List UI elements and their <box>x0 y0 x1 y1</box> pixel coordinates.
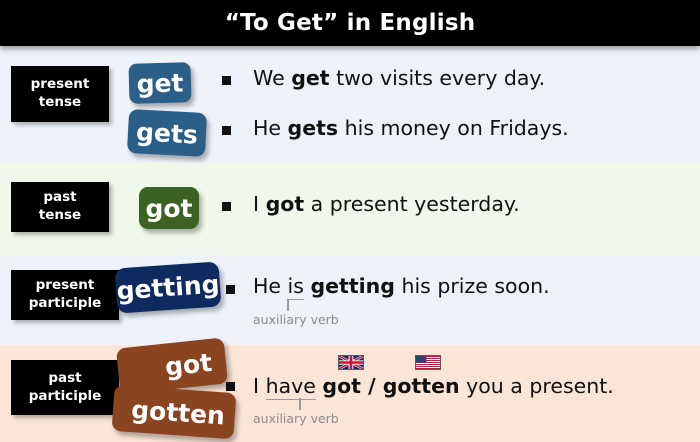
bullet-marker <box>222 202 231 211</box>
label-present-participle: present participle <box>11 270 119 320</box>
sentence-present-1: We get two visits every day. <box>253 66 545 90</box>
badge-get: get <box>128 62 191 104</box>
label-line-1: present <box>31 76 90 94</box>
sentence-past-participle: I have got / gotten you a present. <box>253 374 614 398</box>
label-line-1: past <box>48 370 81 388</box>
sentence-pre: He <box>253 116 288 140</box>
label-line-1: past <box>43 189 76 207</box>
sentence-pre: I <box>253 374 266 398</box>
label-past-tense: past tense <box>11 182 109 232</box>
page-header: “To Get” in English <box>0 0 700 46</box>
infographic-sheet: “To Get” in English present tense get ge… <box>0 0 700 442</box>
annotation-stem <box>287 299 289 311</box>
sentence-post: two visits every day. <box>330 66 546 90</box>
sentence-present-2: He gets his money on Fridays. <box>253 116 569 140</box>
sentence-pre: He <box>253 274 288 298</box>
label-line-2: tense <box>39 94 81 112</box>
sentence-pre: I <box>253 192 266 216</box>
sentence-verb: got <box>266 192 305 216</box>
label-present-tense: present tense <box>11 66 109 122</box>
auxiliary-verb-word: is <box>288 274 304 300</box>
bullet-marker <box>226 382 235 391</box>
badge-getting: getting <box>115 261 222 313</box>
annotation-auxiliary-verb: auxiliary verb <box>253 312 339 327</box>
badge-gotten: gotten <box>112 385 237 439</box>
annotation-stem <box>299 398 301 410</box>
bullet-marker <box>222 126 231 135</box>
page-title: “To Get” in English <box>225 10 476 36</box>
sentence-verb: gets <box>288 116 339 140</box>
sentence-verb: getting <box>310 274 394 298</box>
annotation-auxiliary-verb: auxiliary verb <box>253 411 339 426</box>
badge-got-past-tense: got <box>139 187 199 229</box>
label-line-1: present <box>36 277 95 295</box>
sentence-present-participle: He is getting his prize soon. <box>253 274 550 298</box>
badge-gets: gets <box>127 109 207 157</box>
label-line-2: participle <box>29 388 102 406</box>
auxiliary-verb-word: have <box>266 374 316 400</box>
us-flag-icon <box>415 355 441 370</box>
bullet-marker <box>226 285 235 294</box>
sentence-post: his prize soon. <box>395 274 550 298</box>
label-past-participle: past participle <box>11 360 119 415</box>
sentence-past-1: I got a present yesterday. <box>253 192 520 216</box>
sentence-verb: got / gotten <box>322 374 459 398</box>
sentence-pre: We <box>253 66 291 90</box>
sentence-post: you a present. <box>460 374 614 398</box>
sentence-post: his money on Fridays. <box>338 116 569 140</box>
uk-flag-icon <box>338 355 364 370</box>
label-line-2: participle <box>29 295 102 313</box>
bullet-marker <box>222 76 231 85</box>
sentence-post: a present yesterday. <box>304 192 519 216</box>
label-line-2: tense <box>39 207 81 225</box>
sentence-verb: get <box>291 66 329 90</box>
